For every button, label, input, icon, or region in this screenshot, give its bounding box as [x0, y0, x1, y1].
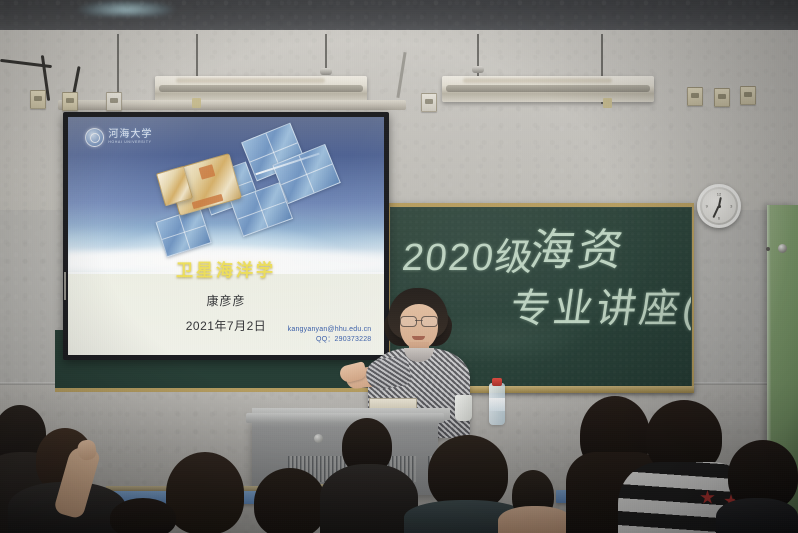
solar-panel — [156, 208, 212, 257]
light-mount-knob — [472, 66, 484, 73]
power-outlet[interactable] — [714, 88, 730, 107]
bottle-label — [489, 398, 505, 411]
logo-name-cn: 河海大学 — [108, 130, 152, 140]
clock-center-pin — [718, 205, 721, 208]
bottle-cap — [492, 378, 502, 386]
logo-name-en: HOHAI UNIVERSITY — [108, 141, 152, 144]
lens-right — [421, 316, 438, 327]
wall-clock: 12 3 6 9 — [697, 184, 741, 228]
chalk-text-grade: 2020级 — [400, 226, 539, 281]
ceiling-light-glow — [78, 0, 174, 16]
eyeglasses-icon — [400, 316, 438, 325]
classroom-photo: 2020级 海资 专业讲座(5) 12 3 6 9 — [0, 0, 798, 533]
screen-pull-cord[interactable] — [64, 272, 66, 300]
door-knob[interactable] — [778, 244, 787, 253]
light-mount-knob — [320, 68, 332, 75]
clock-numeral-6: 6 — [718, 216, 720, 221]
projection-screen: 河海大学 HOHAI UNIVERSITY 卫星海洋学 康彦彦 2021年7月2… — [63, 112, 389, 360]
console-lock[interactable] — [314, 434, 323, 443]
light-tube — [159, 85, 363, 92]
student-head — [110, 498, 176, 533]
university-logo: 河海大学 HOHAI UNIVERSITY — [85, 128, 152, 147]
presentation-slide: 河海大学 HOHAI UNIVERSITY 卫星海洋学 康彦彦 2021年7月2… — [68, 117, 384, 355]
light-hanger-rod — [325, 34, 327, 70]
fixture-stain — [463, 78, 611, 83]
student-body — [716, 498, 798, 533]
power-outlet[interactable] — [62, 92, 78, 111]
student-head — [254, 468, 326, 533]
fixture-stain — [176, 78, 324, 83]
power-outlet[interactable] — [740, 86, 756, 105]
satellite-illustration — [156, 131, 352, 264]
power-outlet[interactable] — [687, 87, 703, 106]
light-tube — [446, 85, 650, 92]
power-outlet[interactable] — [30, 90, 46, 109]
chalk-text-major: 海资 — [526, 214, 632, 278]
mouth — [412, 336, 425, 340]
hohai-emblem-icon — [85, 128, 104, 147]
chalk-text-lecture: 专业讲座(5) — [507, 276, 692, 334]
clock-numeral-9: 9 — [706, 204, 708, 209]
clock-face: 12 3 6 9 — [702, 189, 736, 223]
lens-left — [400, 316, 417, 327]
clock-numeral-12: 12 — [717, 191, 721, 196]
slide-title: 卫星海洋学 — [68, 256, 384, 281]
fixture-clip — [192, 98, 201, 108]
clock-numeral-3: 3 — [730, 204, 732, 209]
console-top — [246, 413, 444, 423]
power-outlet[interactable] — [421, 93, 437, 112]
student-body — [498, 506, 572, 533]
fluorescent-light-fixture — [155, 76, 367, 102]
door-lock[interactable] — [766, 247, 770, 251]
logo-text-block: 河海大学 HOHAI UNIVERSITY — [108, 130, 152, 145]
light-hanger-rod — [117, 34, 119, 100]
fluorescent-light-fixture — [442, 76, 654, 102]
paper-cup — [455, 395, 472, 421]
fixture-clip — [603, 98, 612, 108]
slide-presenter-name: 康彦彦 — [68, 292, 384, 309]
power-outlet[interactable] — [106, 92, 122, 111]
student-head — [166, 452, 244, 533]
